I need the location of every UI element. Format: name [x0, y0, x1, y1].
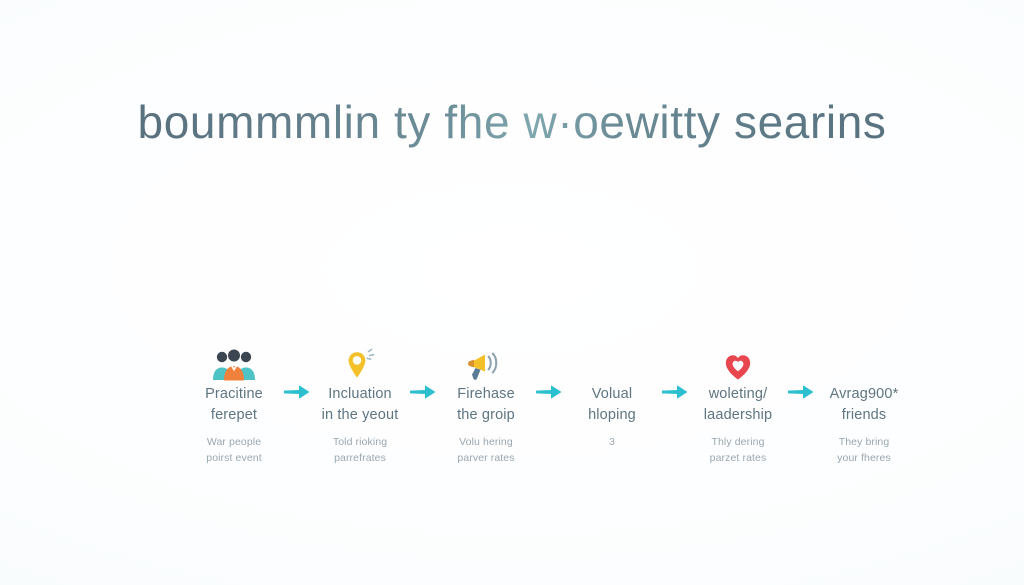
flow-step-2-desc-line2: parrefrates	[333, 451, 387, 467]
flow-step-6[interactable]: Avrag900* friends They bring your fheres	[818, 340, 910, 467]
flow-step-4-icon-placeholder	[584, 340, 640, 382]
flow-step-1[interactable]: Pracitine ferepet War people poirst even…	[188, 340, 280, 467]
location-pin-icon	[332, 340, 388, 382]
flow-step-6-icon-placeholder	[836, 340, 892, 382]
flow-step-4[interactable]: Volual hloping 3	[566, 340, 658, 451]
flow-step-1-desc-line2: poirst event	[206, 451, 261, 467]
flow-step-3-desc-line1: Volu hering	[457, 435, 514, 451]
flow-step-6-desc-line2: your fheres	[837, 451, 891, 467]
flow-step-2-title-line1: Incluation	[322, 384, 399, 405]
flow-step-2-desc-line1: Told rioking	[333, 435, 387, 451]
flow-step-5-title-line2: laadership	[704, 405, 772, 426]
flow-arrow-2	[406, 384, 440, 400]
arrow-right-icon	[662, 384, 688, 400]
flow-step-4-title-line1: Volual	[588, 384, 636, 405]
flow-step-5-title: woleting/ laadership	[704, 384, 772, 426]
megaphone-icon	[458, 340, 514, 382]
page-title: boummmlin ty fhe w·oewitty searins	[0, 96, 1024, 149]
slide-canvas: boummmlin ty fhe w·oewitty searins Praci…	[0, 0, 1024, 585]
flow-step-1-title-line1: Pracitine	[205, 384, 263, 405]
arrow-right-icon	[788, 384, 814, 400]
heart-icon	[710, 340, 766, 382]
flow-step-1-title-line2: ferepet	[205, 405, 263, 426]
arrow-right-icon	[410, 384, 436, 400]
flow-step-2[interactable]: Incluation in the yeout Told rioking par…	[314, 340, 406, 467]
flow-step-6-title-line1: Avrag900*	[830, 384, 899, 405]
flow-step-5-description: Thly dering parzet rates	[710, 435, 767, 467]
flow-step-5-desc-line2: parzet rates	[710, 451, 767, 467]
flow-arrow-4	[658, 384, 692, 400]
flow-step-4-title: Volual hloping	[588, 384, 636, 426]
people-group-icon	[206, 340, 262, 382]
flow-step-1-description: War people poirst event	[206, 435, 261, 467]
flow-step-3-title: Firehase the groip	[457, 384, 515, 426]
flow-step-3-title-line2: the groip	[457, 405, 515, 426]
flow-step-1-title: Pracitine ferepet	[205, 384, 263, 426]
flow-step-3[interactable]: Firehase the groip Volu hering parver ra…	[440, 340, 532, 467]
arrow-right-icon	[284, 384, 310, 400]
flow-step-2-title: Incluation in the yeout	[322, 384, 399, 426]
flow-step-6-title-line2: friends	[830, 405, 899, 426]
flow-step-3-description: Volu hering parver rates	[457, 435, 514, 467]
flow-step-6-desc-line1: They bring	[837, 435, 891, 451]
flow-step-2-description: Told rioking parrefrates	[333, 435, 387, 467]
flow-step-3-title-line1: Firehase	[457, 384, 515, 405]
flow-step-5[interactable]: woleting/ laadership Thly dering parzet …	[692, 340, 784, 467]
flow-step-5-title-line1: woleting/	[704, 384, 772, 405]
flow-step-1-desc-line1: War people	[206, 435, 261, 451]
flow-arrow-1	[280, 384, 314, 400]
flow-arrow-5	[784, 384, 818, 400]
flow-step-4-desc-line1: 3	[609, 435, 615, 451]
flow-step-3-desc-line2: parver rates	[457, 451, 514, 467]
flow-step-6-description: They bring your fheres	[837, 435, 891, 467]
flow-step-4-description: 3	[609, 435, 615, 451]
process-flow-strip: Pracitine ferepet War people poirst even…	[188, 340, 848, 467]
flow-step-5-desc-line1: Thly dering	[710, 435, 767, 451]
flow-step-6-title: Avrag900* friends	[830, 384, 899, 426]
flow-step-2-title-line2: in the yeout	[322, 405, 399, 426]
flow-arrow-3	[532, 384, 566, 400]
arrow-right-icon	[536, 384, 562, 400]
flow-step-4-title-line2: hloping	[588, 405, 636, 426]
title-block: boummmlin ty fhe w·oewitty searins	[0, 96, 1024, 149]
